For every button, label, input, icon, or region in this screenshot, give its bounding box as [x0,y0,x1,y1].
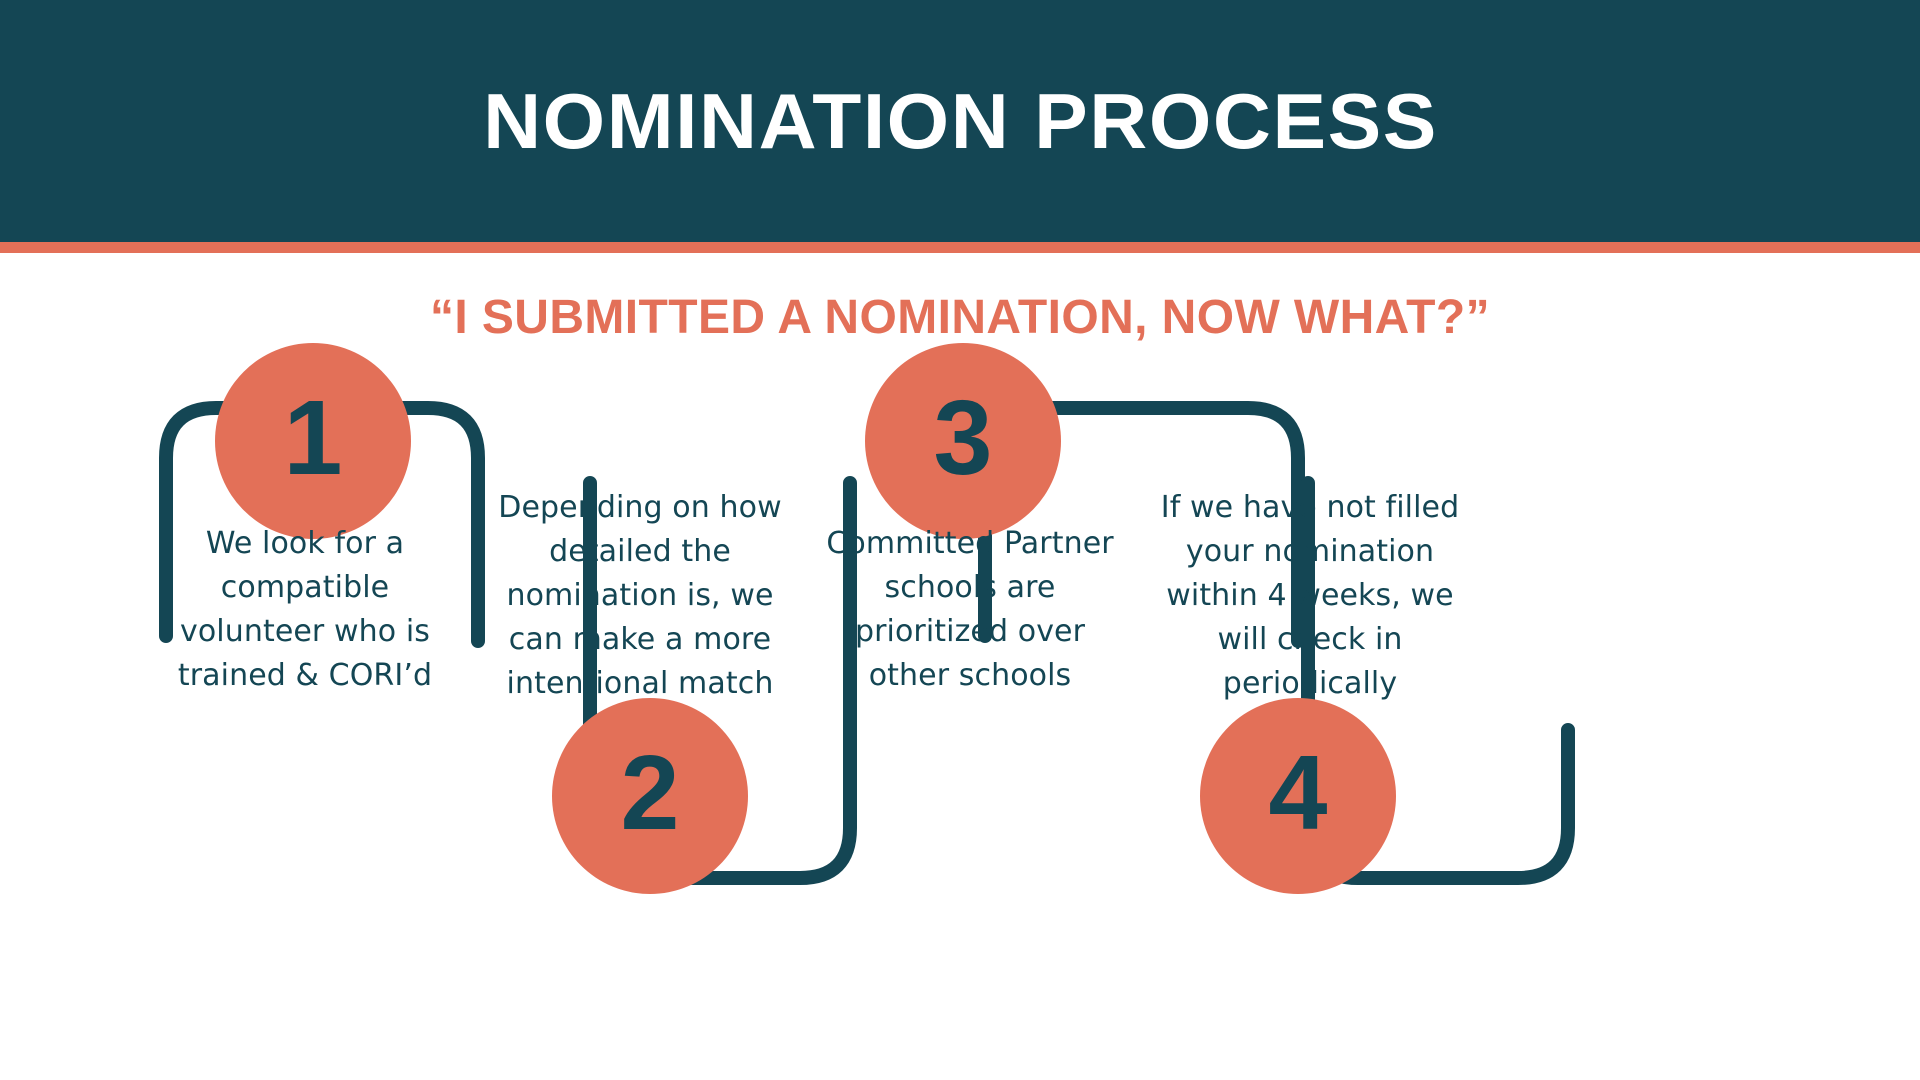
header-accent-bar [0,242,1920,253]
header-banner: NOMINATION PROCESS [0,0,1920,242]
process-diagram: 1 We look for a compatible volunteer who… [0,253,1920,1080]
page-title: NOMINATION PROCESS [483,82,1438,160]
step-text-3: Committed Partner schools are prioritize… [820,522,1120,698]
step-text-4: If we have not filled your nomination wi… [1150,486,1470,706]
step-text-2: Depending on how detailed the nomination… [480,486,800,706]
step-circle-2[interactable]: 2 [552,698,748,894]
step-number-2: 2 [621,740,680,846]
step-number-4: 4 [1269,740,1328,846]
step-circle-3[interactable]: 3 [865,343,1061,539]
step-text-1: We look for a compatible volunteer who i… [155,522,455,698]
slide-canvas: NOMINATION PROCESS “I SUBMITTED A NOMINA… [0,0,1920,1080]
step-number-1: 1 [284,385,343,491]
step-number-3: 3 [934,385,993,491]
step-circle-4[interactable]: 4 [1200,698,1396,894]
step-circle-1[interactable]: 1 [215,343,411,539]
